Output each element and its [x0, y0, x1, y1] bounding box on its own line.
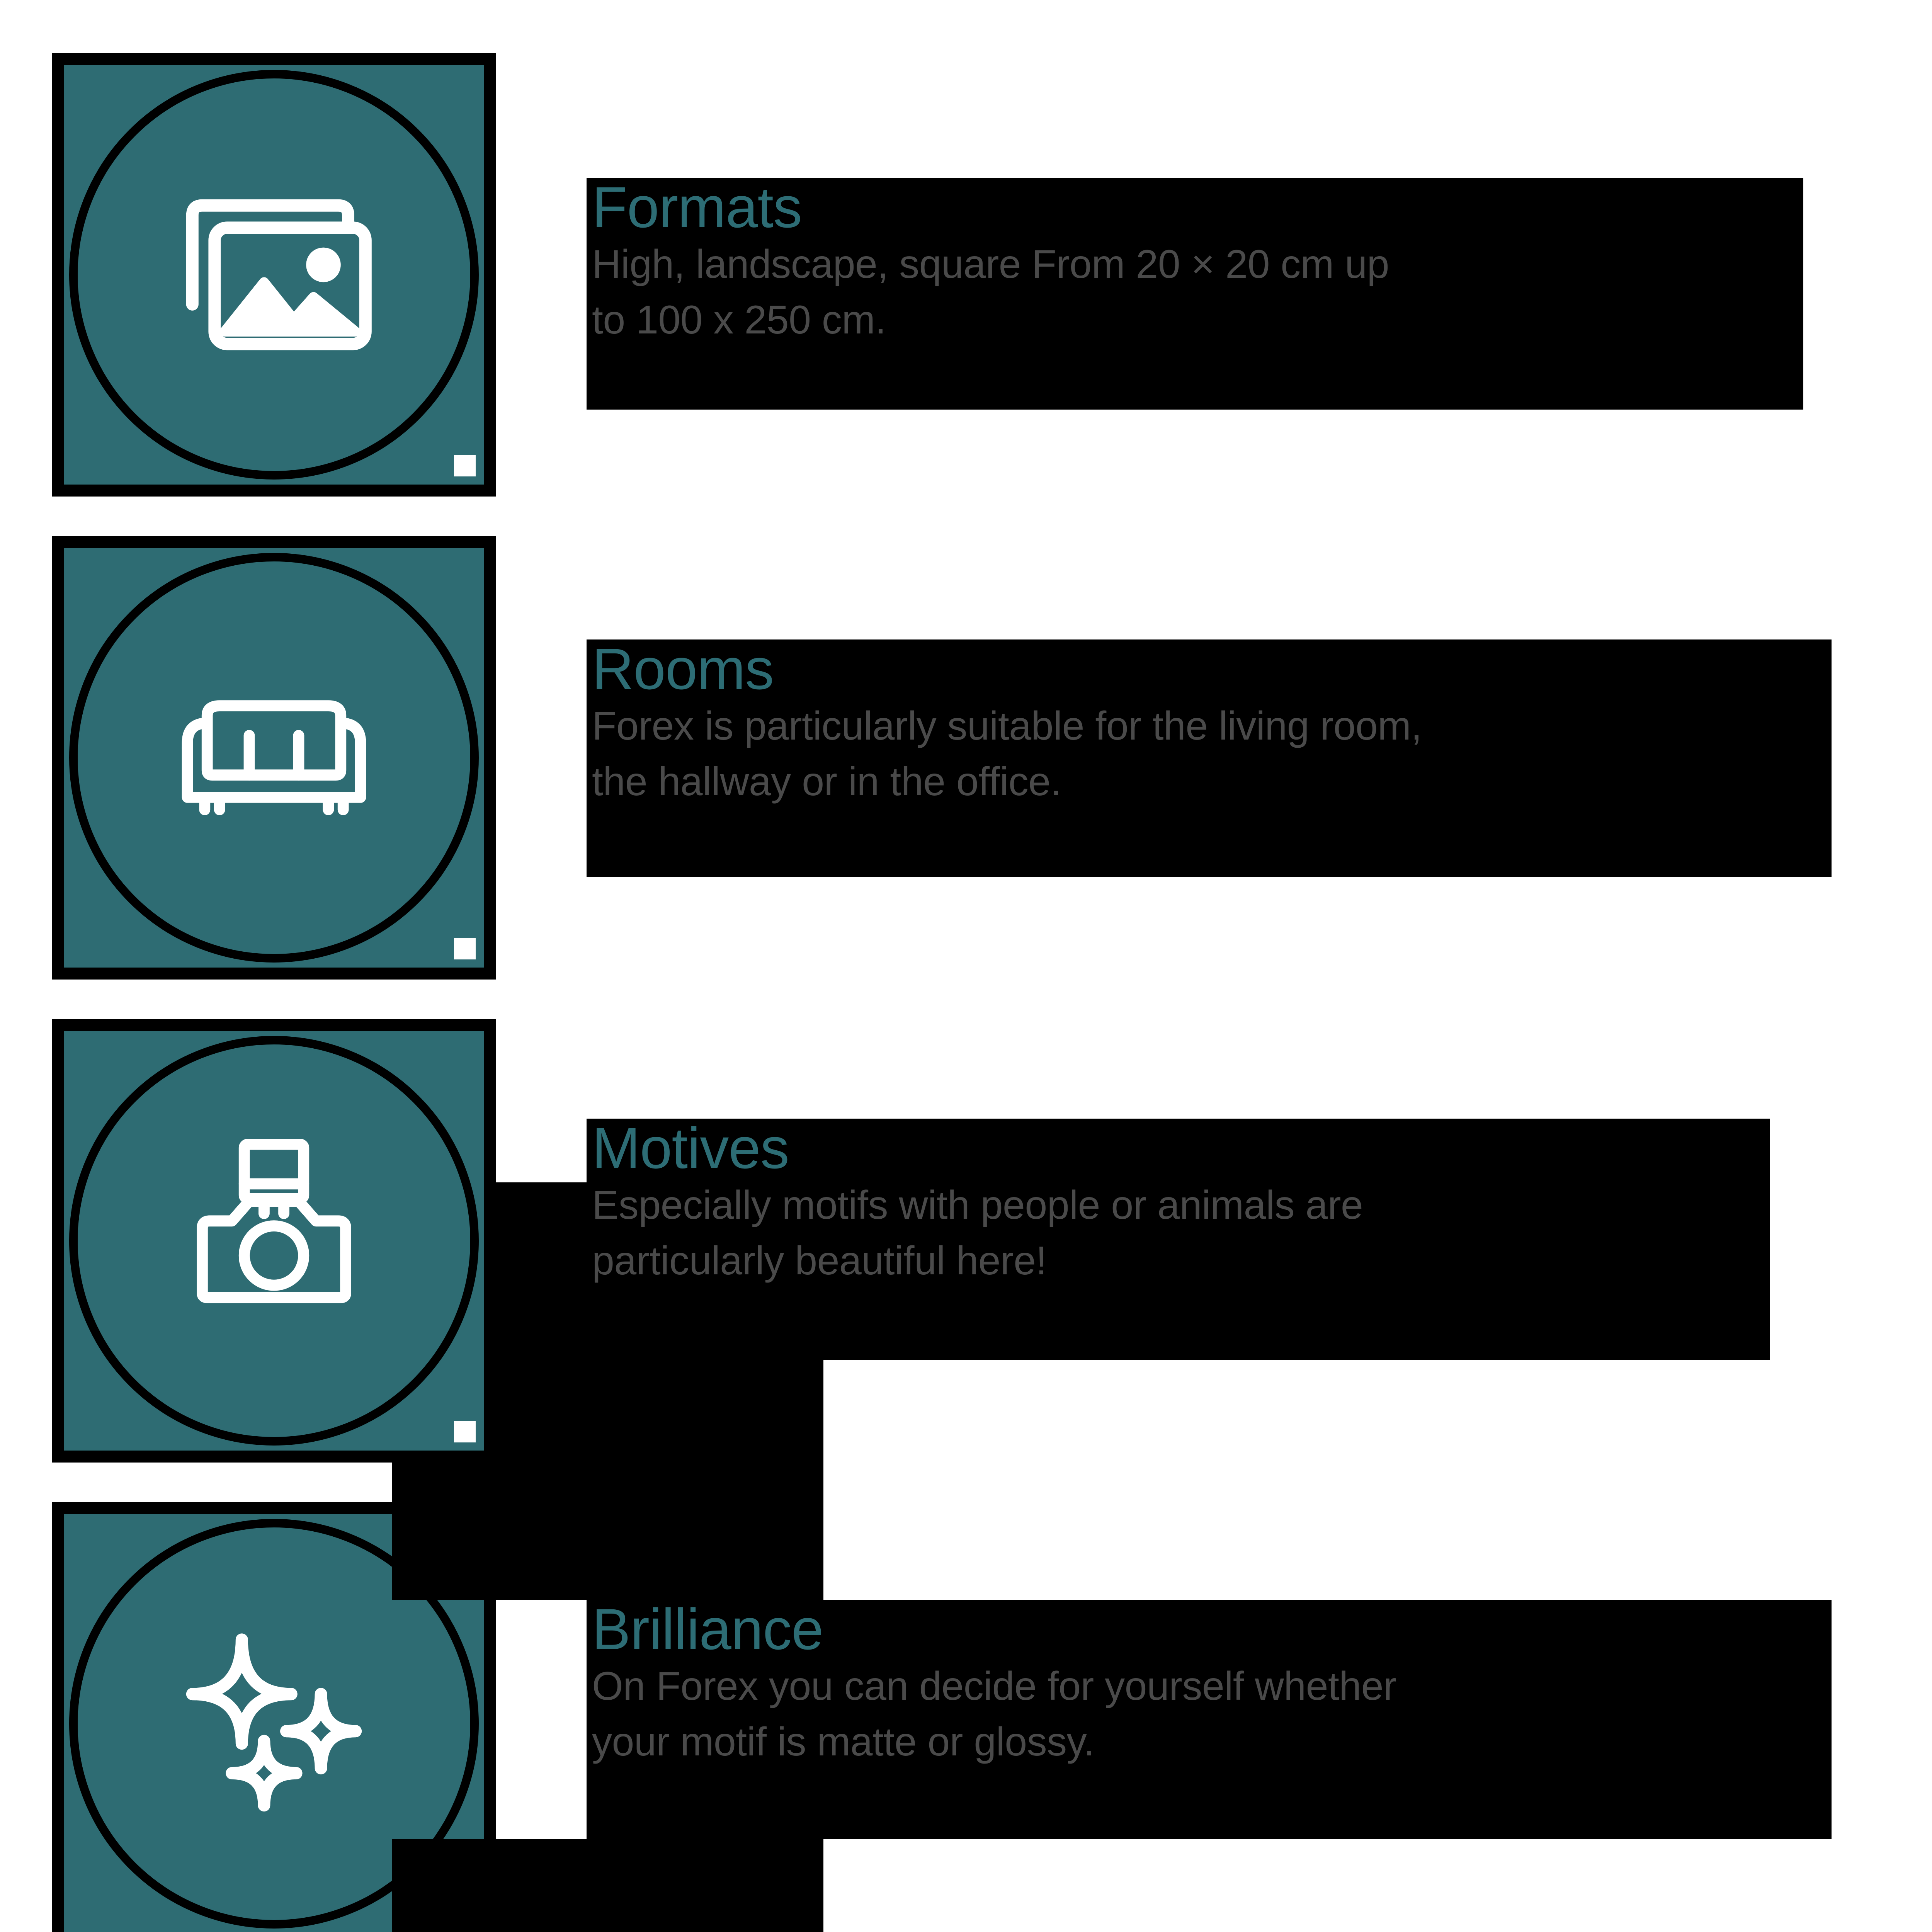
feature-icon-tile-rooms [52, 536, 496, 980]
feature-list-page: Formats High, landscape, square From 20 … [0, 0, 1932, 1932]
decor-block-connector [786, 1360, 823, 1607]
feature-plate-formats: Formats High, landscape, square From 20 … [587, 178, 1803, 410]
feature-heading: Motives [592, 1119, 1770, 1178]
tile-corner-marker [454, 938, 476, 959]
feature-body-line: Forex is particularly suitable for the l… [592, 699, 1832, 754]
feature-body-line: High, landscape, square From 20 × 20 cm … [592, 237, 1803, 293]
tile-corner-marker [454, 455, 476, 476]
feature-body-line: your motif is matte or glossy. [592, 1714, 1832, 1770]
camera-icon [52, 1019, 496, 1463]
feature-body-line: the hallway or in the office. [592, 754, 1832, 810]
feature-icon-tile-motives [52, 1019, 496, 1463]
feature-plate-motives: Motives Especially motifs with people or… [587, 1119, 1770, 1360]
sofa-icon [52, 536, 496, 980]
feature-heading: Formats [592, 178, 1803, 237]
decor-block-left-lower [392, 1839, 823, 1932]
feature-body-line: Especially motifs with people or animals… [592, 1178, 1770, 1233]
decor-block-left-mid [392, 1453, 823, 1600]
feature-body-line: On Forex you can decide for yourself whe… [592, 1659, 1832, 1714]
feature-heading: Rooms [592, 639, 1832, 699]
images-stack-icon [52, 53, 496, 497]
feature-body-line: to 100 x 250 cm. [592, 293, 1803, 348]
tile-corner-marker [454, 1421, 476, 1442]
feature-heading: Brilliance [592, 1600, 1832, 1659]
feature-plate-brilliance: Brilliance On Forex you can decide for y… [587, 1600, 1832, 1839]
feature-body-line: particularly beautiful here! [592, 1233, 1770, 1289]
feature-icon-tile-formats [52, 53, 496, 497]
feature-plate-rooms: Rooms Forex is particularly suitable for… [587, 639, 1832, 877]
